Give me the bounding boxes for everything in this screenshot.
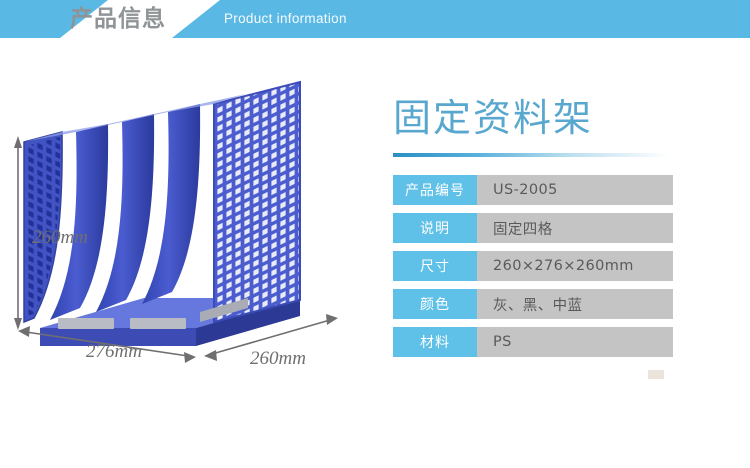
table-row: 材料 PS <box>393 327 673 357</box>
dimension-label-height: 260mm <box>32 227 88 249</box>
product-label-holder-1 <box>58 318 114 329</box>
spec-value-color: 灰、黑、中蓝 <box>477 289 673 319</box>
spec-value-size: 260×276×260mm <box>477 251 673 281</box>
dimension-label-width: 260mm <box>250 348 306 370</box>
spec-value-material: PS <box>477 327 673 357</box>
product-back-mesh-panel <box>214 82 300 322</box>
spec-key-size: 尺寸 <box>393 251 477 281</box>
spec-value-product-code: US-2005 <box>477 175 673 205</box>
title-underline-rule <box>393 153 670 157</box>
header-title-cn: 产品信息 <box>70 4 220 34</box>
image-corner-artifact <box>648 370 664 379</box>
product-info-panel: 固定资料架 产品编号 US-2005 说明 固定四格 尺寸 260×276×26… <box>393 92 685 357</box>
product-information-page: 产品信息 Product information <box>0 0 750 468</box>
spec-value-description: 固定四格 <box>477 213 673 243</box>
product-image-area: 260mm 276mm 260mm <box>0 60 380 400</box>
product-title: 固定资料架 <box>393 92 685 144</box>
page-header-band: 产品信息 Product information <box>0 0 750 38</box>
spec-key-color: 颜色 <box>393 289 477 319</box>
product-label-holder-2 <box>130 318 186 329</box>
table-row: 说明 固定四格 <box>393 213 673 243</box>
table-row: 颜色 灰、黑、中蓝 <box>393 289 673 319</box>
spec-key-product-code: 产品编号 <box>393 175 477 205</box>
table-row: 尺寸 260×276×260mm <box>393 251 673 281</box>
spec-key-material: 材料 <box>393 327 477 357</box>
specification-table: 产品编号 US-2005 说明 固定四格 尺寸 260×276×260mm 颜色… <box>393 175 673 357</box>
spec-key-description: 说明 <box>393 213 477 243</box>
header-title-en: Product information <box>224 9 347 29</box>
dimension-arrow-height <box>14 136 22 330</box>
dimension-label-depth: 276mm <box>86 341 142 363</box>
table-row: 产品编号 US-2005 <box>393 175 673 205</box>
